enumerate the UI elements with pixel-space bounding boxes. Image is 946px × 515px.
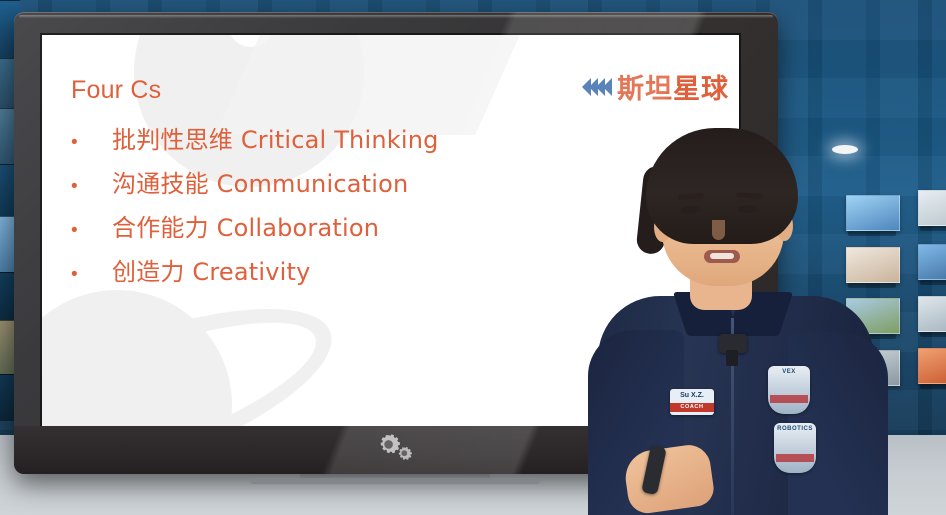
monitor-stand-base <box>250 478 540 484</box>
wall-screen-base <box>920 332 946 337</box>
presenter-teeth <box>710 253 734 259</box>
jacket-patch: ROBOTICS <box>774 423 816 473</box>
bullet-icon: • <box>66 176 112 198</box>
bullet-label: 批判性思维 Critical Thinking <box>112 120 439 155</box>
bullet-label: 沟通技能 Communication <box>112 164 408 199</box>
chevron-left-icon-group <box>582 78 610 96</box>
bullet-icon: • <box>66 264 112 286</box>
jacket-patch: VEX <box>768 366 810 414</box>
patch-label: VEX <box>768 366 810 379</box>
wall-screen <box>918 348 946 384</box>
bullet-label: 合作能力 Collaboration <box>112 208 379 243</box>
slide-title: Four Cs <box>71 76 161 105</box>
presenter: Su X.Z. COACH VEX ROBOTICS <box>588 128 888 515</box>
bullet-icon: • <box>66 132 112 154</box>
chevron-left-icon <box>603 78 612 96</box>
wall-screen-base <box>920 280 946 285</box>
gears-icon <box>373 432 419 462</box>
patch-label: ROBOTICS <box>774 423 816 436</box>
monitor-top-highlight <box>19 15 773 18</box>
wall-screen <box>918 244 946 280</box>
wall-screen-base <box>920 226 946 231</box>
wall-screen <box>918 296 946 332</box>
microphone-clip-icon <box>726 350 738 366</box>
wall-screen-base <box>920 384 946 389</box>
presenter-nose <box>712 220 725 240</box>
bullet-label: 创造力 Creativity <box>112 252 311 287</box>
brand-logo: 斯坦星球 <box>582 67 729 106</box>
badge-role-text: COACH <box>670 403 714 412</box>
name-badge: Su X.Z. COACH <box>670 389 714 415</box>
screenshot-stage: Four Cs 斯坦星球 • 批判性思维 Criti <box>0 0 946 515</box>
wall-screen <box>918 190 946 226</box>
bullet-icon: • <box>66 220 112 242</box>
presenter-eye-right <box>738 205 757 213</box>
patch-banner <box>776 454 814 462</box>
presenter-eye-left <box>681 206 700 214</box>
badge-name-text: Su X.Z. <box>670 389 714 403</box>
patch-banner <box>770 395 808 403</box>
brand-logo-text: 斯坦星球 <box>617 67 729 106</box>
